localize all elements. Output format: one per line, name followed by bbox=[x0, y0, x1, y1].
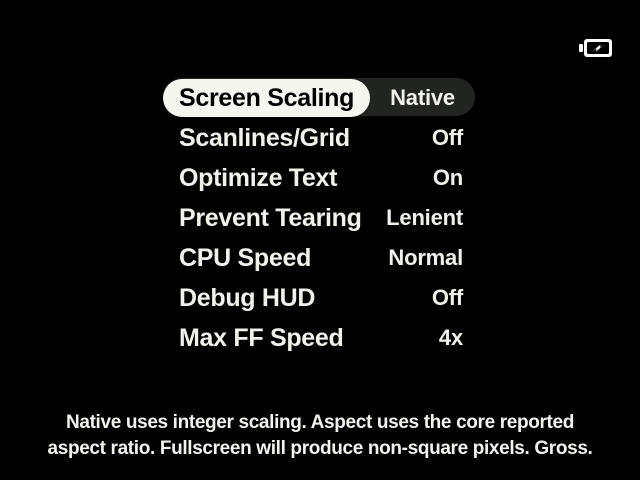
value-wrap[interactable]: Off bbox=[366, 127, 475, 149]
menu-item-label: CPU Speed bbox=[179, 246, 311, 271]
menu-item-value: Normal bbox=[388, 247, 463, 269]
label-pill: CPU Speed bbox=[163, 239, 327, 277]
menu-item-label: Scanlines/Grid bbox=[179, 126, 350, 151]
menu-item-label: Max FF Speed bbox=[179, 326, 344, 351]
battery-charging-icon bbox=[579, 38, 613, 58]
setting-description: Native uses integer scaling. Aspect uses… bbox=[0, 410, 640, 462]
value-wrap[interactable]: On bbox=[353, 167, 475, 189]
menu-item-value: On bbox=[433, 167, 463, 189]
menu-item-value: 4x bbox=[439, 327, 463, 349]
menu-row-optimize-text[interactable]: Optimize Text On bbox=[163, 158, 475, 198]
menu-row-debug-hud[interactable]: Debug HUD Off bbox=[163, 278, 475, 318]
menu-item-label: Debug HUD bbox=[179, 286, 315, 311]
value-wrap[interactable]: Off bbox=[331, 287, 475, 309]
menu-item-value: Off bbox=[432, 287, 463, 309]
label-pill: Debug HUD bbox=[163, 279, 331, 317]
label-pill: Screen Scaling bbox=[163, 79, 370, 117]
menu-row-scanlines-grid[interactable]: Scanlines/Grid Off bbox=[163, 118, 475, 158]
menu-item-value: Native bbox=[390, 87, 455, 109]
description-line-1: Native uses integer scaling. Aspect uses… bbox=[24, 410, 616, 436]
menu-row-prevent-tearing[interactable]: Prevent Tearing Lenient bbox=[163, 198, 475, 238]
menu-item-value: Off bbox=[432, 127, 463, 149]
settings-menu[interactable]: Screen Scaling Native Scanlines/Grid Off… bbox=[163, 78, 475, 358]
label-pill: Optimize Text bbox=[163, 159, 353, 197]
label-pill: Scanlines/Grid bbox=[163, 119, 366, 157]
label-pill: Max FF Speed bbox=[163, 319, 360, 357]
description-line-2: aspect ratio. Fullscreen will produce no… bbox=[24, 436, 616, 462]
settings-screen: Screen Scaling Native Scanlines/Grid Off… bbox=[0, 0, 640, 480]
value-wrap[interactable]: Native bbox=[370, 87, 475, 109]
menu-item-label: Prevent Tearing bbox=[179, 206, 362, 231]
menu-item-label: Screen Scaling bbox=[179, 86, 354, 111]
menu-item-label: Optimize Text bbox=[179, 166, 337, 191]
value-wrap[interactable]: Normal bbox=[327, 247, 475, 269]
status-bar bbox=[0, 0, 640, 78]
menu-row-screen-scaling[interactable]: Screen Scaling Native bbox=[163, 78, 475, 118]
menu-row-max-ff-speed[interactable]: Max FF Speed 4x bbox=[163, 318, 475, 358]
menu-row-cpu-speed[interactable]: CPU Speed Normal bbox=[163, 238, 475, 278]
menu-item-value: Lenient bbox=[386, 207, 463, 229]
value-wrap[interactable]: Lenient bbox=[378, 207, 475, 229]
label-pill: Prevent Tearing bbox=[163, 199, 378, 237]
value-wrap[interactable]: 4x bbox=[360, 327, 476, 349]
